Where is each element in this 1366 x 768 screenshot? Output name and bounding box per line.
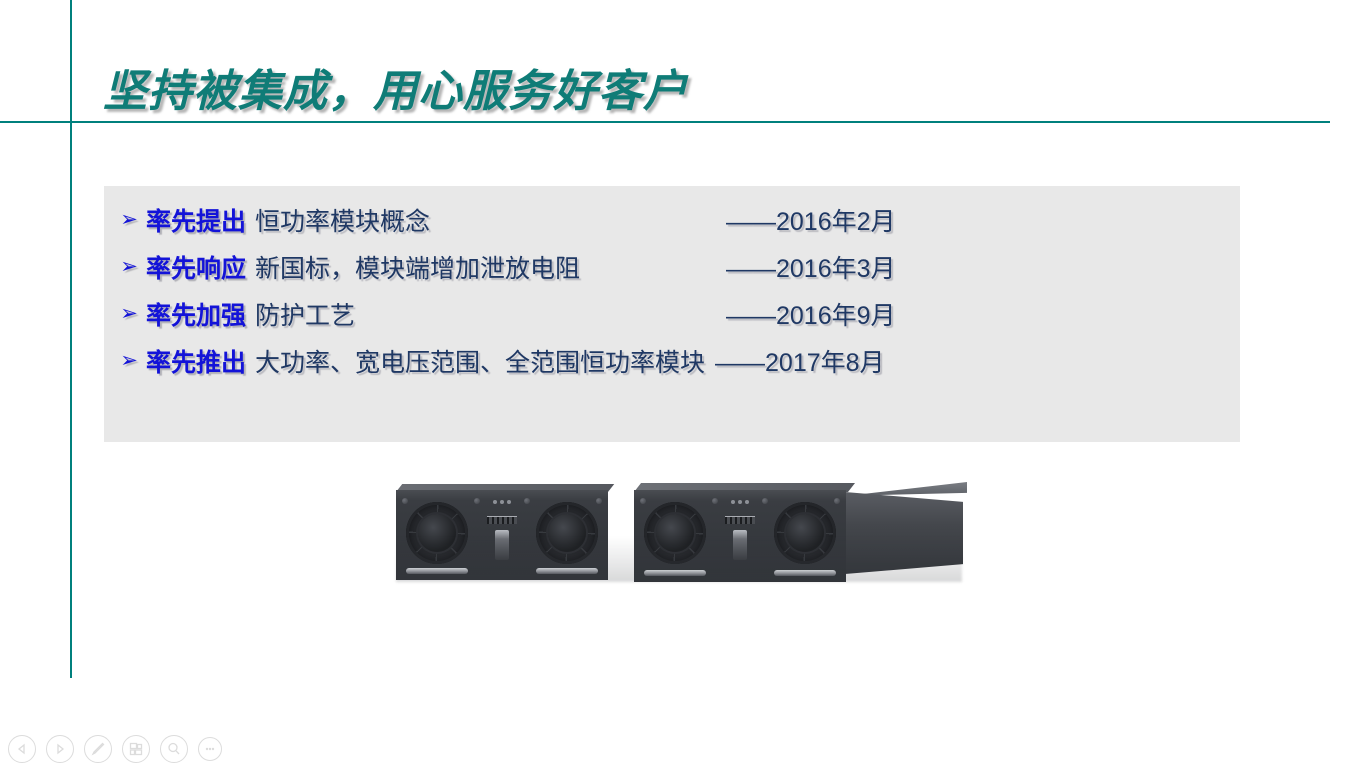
list-item-date: ——2017年8月: [715, 343, 885, 379]
list-item-text: 大功率、宽电压范围、全范围恒功率模块: [255, 343, 705, 379]
screw-icon: [762, 498, 768, 504]
page-title: 坚持被集成，用心服务好客户: [103, 55, 688, 119]
content-panel: ➢ 率先提出 恒功率模块概念 ——2016年2月 ➢ 率先响应 新国标，模块端增…: [104, 186, 1240, 442]
list-item: ➢ 率先响应 新国标，模块端增加泄放电阻 ——2016年3月: [104, 243, 1240, 290]
grid-icon: [128, 741, 144, 757]
list-item-highlight: 率先推出: [146, 343, 246, 379]
arrow-bullet-icon: ➢: [112, 209, 146, 230]
screw-icon: [834, 498, 840, 504]
next-slide-button[interactable]: [46, 735, 74, 763]
annotate-pen-button[interactable]: [84, 735, 112, 763]
horizontal-accent-rule: [0, 121, 1330, 123]
more-options-button[interactable]: [198, 737, 222, 761]
list-item: ➢ 率先推出 大功率、宽电压范围、全范围恒功率模块 ——2017年8月: [104, 337, 1240, 384]
product-photo: [380, 480, 980, 680]
vertical-accent-rule: [70, 0, 72, 678]
pen-icon: [90, 741, 106, 757]
list-item-text: 防护工艺: [255, 296, 355, 332]
photo-reflection: [396, 518, 962, 582]
list-item: ➢ 率先加强 防护工艺 ——2016年9月: [104, 290, 1240, 337]
list-item-date: ——2016年3月: [726, 249, 896, 285]
list-item-highlight: 率先响应: [146, 249, 246, 285]
screw-icon: [596, 498, 602, 504]
bullet-list: ➢ 率先提出 恒功率模块概念 ——2016年2月 ➢ 率先响应 新国标，模块端增…: [104, 196, 1240, 384]
screw-icon: [524, 498, 530, 504]
status-led-indicators: [493, 500, 511, 504]
list-item-highlight: 率先提出: [146, 202, 246, 238]
list-item-text: 新国标，模块端增加泄放电阻: [255, 249, 580, 285]
list-item-text: 恒功率模块概念: [255, 202, 430, 238]
arrow-bullet-icon: ➢: [112, 256, 146, 277]
status-led-indicators: [731, 500, 749, 504]
triangle-right-icon: [53, 742, 67, 756]
list-item-date: ——2016年9月: [726, 296, 896, 332]
list-item-highlight: 率先加强: [146, 296, 246, 332]
arrow-bullet-icon: ➢: [112, 303, 146, 324]
list-item: ➢ 率先提出 恒功率模块概念 ——2016年2月: [104, 196, 1240, 243]
previous-slide-button[interactable]: [8, 735, 36, 763]
ellipsis-icon: [203, 742, 217, 756]
zoom-button[interactable]: [160, 735, 188, 763]
screw-icon: [402, 498, 408, 504]
magnifier-icon: [166, 741, 182, 757]
slide-grid-button[interactable]: [122, 735, 150, 763]
slideshow-toolbar: [8, 735, 222, 763]
screw-icon: [712, 498, 718, 504]
screw-icon: [640, 498, 646, 504]
triangle-left-icon: [15, 742, 29, 756]
arrow-bullet-icon: ➢: [112, 350, 146, 371]
screw-icon: [474, 498, 480, 504]
list-item-date: ——2016年2月: [726, 202, 896, 238]
